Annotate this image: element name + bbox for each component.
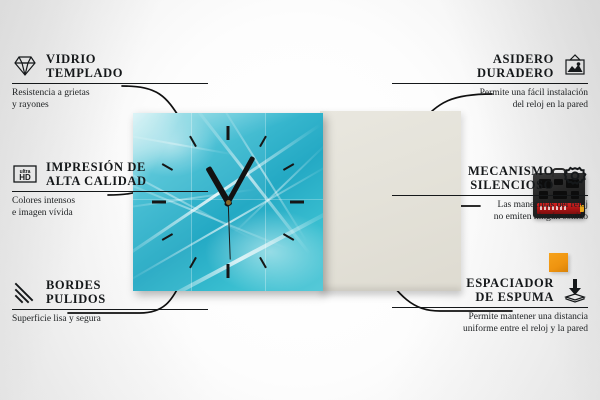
feature-desc-line2: no emiten ningún sonido [392, 212, 588, 224]
diamond-icon [12, 53, 38, 79]
gear-icon [562, 165, 588, 191]
foam-spacer-pad [549, 253, 568, 272]
framed-picture-icon [562, 53, 588, 79]
feature-asidero-duradero: ASIDERO DURADERO Permite una fácil insta… [392, 52, 588, 111]
clock-center-pin [226, 200, 231, 205]
feature-title-line2: DE ESPUMA [466, 290, 554, 304]
feature-desc-line2: del reloj en la pared [392, 100, 588, 112]
infographic-canvas: VIDRIO TEMPLADO Resistencia a grietas y … [0, 0, 600, 400]
feature-desc-line1: Superficie lisa y segura [12, 314, 208, 326]
feature-title-line2: DURADERO [477, 66, 554, 80]
feature-vidrio-templado: VIDRIO TEMPLADO Resistencia a grietas y … [12, 52, 208, 111]
feature-desc-line2: uniforme entre el reloj y la pared [392, 324, 588, 336]
feature-mecanismo-silencioso: MECANISMO SILENCIOSO Las manecillas del … [392, 164, 588, 223]
feature-rule [392, 307, 588, 308]
feature-rule [392, 195, 588, 196]
feature-rule [12, 309, 208, 310]
feature-title-line2: TEMPLADO [46, 66, 123, 80]
diagonal-lines-icon [12, 279, 38, 305]
feature-title-line1: ASIDERO [477, 52, 554, 66]
feature-title-line1: MECANISMO [468, 164, 554, 178]
feature-desc-line1: Las manecillas del reloj [392, 200, 588, 212]
svg-text:HD: HD [19, 173, 31, 182]
feature-desc-line1: Permite una fácil instalación [392, 88, 588, 100]
feature-desc-line1: Colores intensos [12, 196, 208, 208]
feature-rule [12, 83, 208, 84]
feature-title-line1: ESPACIADOR [466, 276, 554, 290]
feature-title-line1: BORDES [46, 278, 106, 292]
feature-title-line1: IMPRESIÓN DE [46, 160, 147, 174]
feature-desc-line2: y rayones [12, 100, 208, 112]
feature-title-line2: PULIDOS [46, 292, 106, 306]
feature-espaciador-espuma: ESPACIADOR DE ESPUMA Permite mantener un… [392, 276, 588, 335]
feature-desc-line1: Permite mantener una distancia [392, 312, 588, 324]
feature-title-line2: SILENCIOSO [468, 178, 554, 192]
feature-rule [12, 191, 208, 192]
feature-bordes-pulidos: BORDES PULIDOS Superficie lisa y segura [12, 278, 208, 326]
feature-title-line2: ALTA CALIDAD [46, 174, 147, 188]
feature-desc-line2: e imagen vívida [12, 208, 208, 220]
feature-impresion-alta-calidad: ultra HD IMPRESIÓN DE ALTA CALIDAD Color… [12, 160, 208, 219]
feature-desc-line1: Resistencia a grietas [12, 88, 208, 100]
down-arrow-pad-icon [562, 277, 588, 303]
ultra-hd-icon: ultra HD [12, 161, 38, 187]
feature-rule [392, 83, 588, 84]
feature-title-line1: VIDRIO [46, 52, 123, 66]
